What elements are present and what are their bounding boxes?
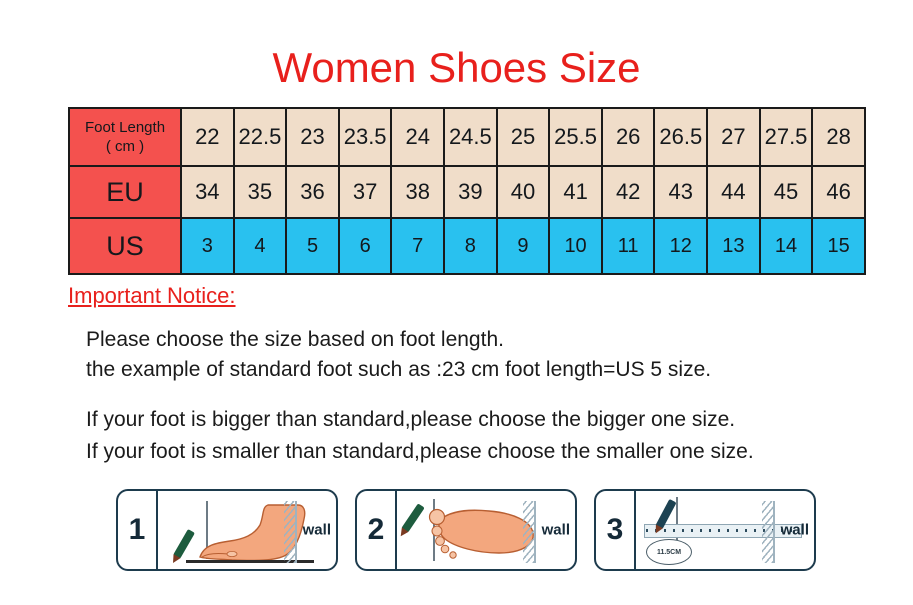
measurement-badge: 11.5CM [646, 539, 692, 565]
step-number-1: 1 [118, 491, 158, 569]
cell-eu-8: 42 [602, 166, 655, 218]
table-row-foot-length: Foot Length ( cm ) 22 22.5 23 23.5 24 24… [69, 108, 865, 166]
notice-line-3: If your foot is bigger than standard,ple… [86, 408, 735, 432]
cell-foot-length-1: 22.5 [234, 108, 287, 166]
wall-hatch-2 [523, 501, 536, 563]
cell-foot-length-9: 26.5 [654, 108, 707, 166]
cell-foot-length-3: 23.5 [339, 108, 392, 166]
row-label-us: US [69, 218, 181, 274]
cell-us-4: 7 [391, 218, 444, 274]
notice-line-2: the example of standard foot such as :23… [86, 358, 711, 382]
cell-eu-10: 44 [707, 166, 760, 218]
cell-us-8: 11 [602, 218, 655, 274]
cell-eu-6: 40 [497, 166, 550, 218]
step-panel-1: 1 wall [116, 489, 338, 571]
cell-us-7: 10 [549, 218, 602, 274]
cell-eu-11: 45 [760, 166, 813, 218]
cell-eu-3: 37 [339, 166, 392, 218]
cell-us-2: 5 [286, 218, 339, 274]
cell-eu-9: 43 [654, 166, 707, 218]
wall-label-3: wall [781, 522, 809, 539]
cell-foot-length-4: 24 [391, 108, 444, 166]
cell-us-6: 9 [497, 218, 550, 274]
row-label-foot-length-text: Foot Length [70, 118, 180, 137]
cell-foot-length-6: 25 [497, 108, 550, 166]
cell-us-10: 13 [707, 218, 760, 274]
foot-side-view-illustration: wall [158, 491, 336, 569]
cell-us-0: 3 [181, 218, 234, 274]
cell-foot-length-0: 22 [181, 108, 234, 166]
table-row-eu: EU 34 35 36 37 38 39 40 41 42 43 44 45 4… [69, 166, 865, 218]
cell-eu-4: 38 [391, 166, 444, 218]
wall-hatch-3 [762, 501, 775, 563]
row-label-eu: EU [69, 166, 181, 218]
measurement-steps: 1 wall 2 [116, 489, 816, 571]
step-number-3: 3 [596, 491, 636, 569]
cell-foot-length-12: 28 [812, 108, 865, 166]
table-row-us: US 3 4 5 6 7 8 9 10 11 12 13 14 15 [69, 218, 865, 274]
step-number-2: 2 [357, 491, 397, 569]
page-title: Women Shoes Size [0, 44, 913, 92]
cell-eu-7: 41 [549, 166, 602, 218]
cell-foot-length-10: 27 [707, 108, 760, 166]
cell-foot-length-7: 25.5 [549, 108, 602, 166]
cell-eu-1: 35 [234, 166, 287, 218]
cell-foot-length-8: 26 [602, 108, 655, 166]
cell-eu-5: 39 [444, 166, 497, 218]
cell-us-3: 6 [339, 218, 392, 274]
notice-line-1: Please choose the size based on foot len… [86, 328, 504, 352]
cell-us-5: 8 [444, 218, 497, 274]
wall-label-1: wall [303, 522, 331, 539]
cell-eu-12: 46 [812, 166, 865, 218]
shoe-size-table: Foot Length ( cm ) 22 22.5 23 23.5 24 24… [68, 107, 866, 275]
cell-us-12: 15 [812, 218, 865, 274]
step-panel-2: 2 wall [355, 489, 577, 571]
notice-line-4: If your foot is smaller than standard,pl… [86, 440, 754, 464]
wall-label-2: wall [542, 522, 570, 539]
cell-foot-length-5: 24.5 [444, 108, 497, 166]
row-label-foot-length: Foot Length ( cm ) [69, 108, 181, 166]
important-notice-heading: Important Notice: [68, 283, 236, 309]
cell-eu-0: 34 [181, 166, 234, 218]
cell-us-11: 14 [760, 218, 813, 274]
foot-sole-view-illustration: wall [397, 491, 575, 569]
ruler-measure-illustration: 11.5CM wall [636, 491, 814, 569]
step-panel-3: 3 11.5CM wall [594, 489, 816, 571]
cell-eu-2: 36 [286, 166, 339, 218]
row-label-foot-length-unit: ( cm ) [70, 137, 180, 156]
cell-foot-length-11: 27.5 [760, 108, 813, 166]
cell-foot-length-2: 23 [286, 108, 339, 166]
cell-us-9: 12 [654, 218, 707, 274]
wall-hatch-1 [284, 501, 297, 563]
cell-us-1: 4 [234, 218, 287, 274]
